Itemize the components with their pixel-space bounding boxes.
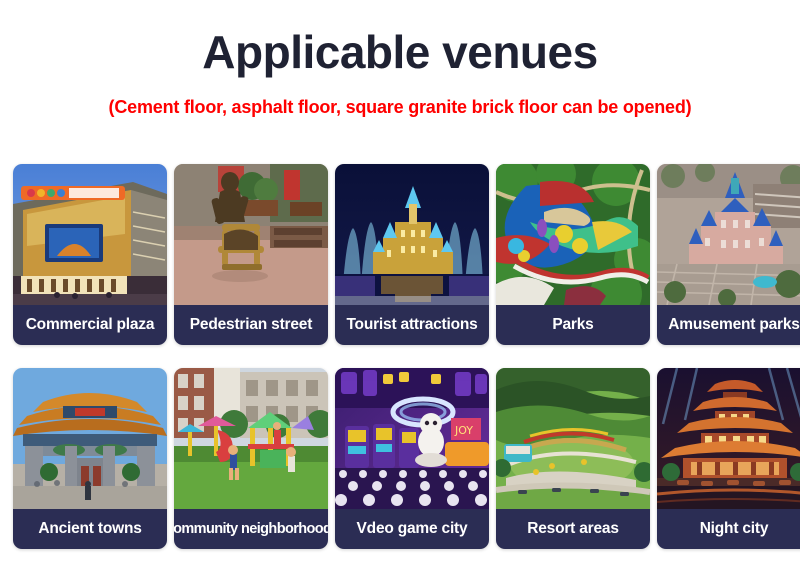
bronze-statue-street-photo	[174, 164, 328, 305]
playground-community-photo	[174, 368, 328, 509]
venue-card-label: Community neighborhoods	[174, 509, 328, 549]
venue-label-text: Resort areas	[527, 520, 619, 538]
venue-label-text: Commercial plaza	[26, 316, 155, 334]
venue-card-commercial-plaza[interactable]: Commercial plaza	[13, 164, 167, 345]
venue-card-label: Ancient towns	[13, 509, 167, 549]
illuminated-pagoda-night-photo	[657, 368, 800, 509]
venue-card-ancient-towns[interactable]: Ancient towns	[13, 368, 167, 549]
aerial-castle-theme-park-photo	[657, 164, 800, 305]
venue-card-community-neighborhoods[interactable]: Community neighborhoods	[174, 368, 328, 549]
shopping-mall-night-photo	[13, 164, 167, 305]
venue-card-label: Parks	[496, 305, 650, 345]
venue-card-video-game-city[interactable]: JOY	[335, 368, 489, 549]
venue-card-tourist-attractions[interactable]: Tourist attractions	[335, 164, 489, 345]
aerial-colorful-park-photo	[496, 164, 650, 305]
venue-label-text: Tourist attractions	[346, 316, 477, 334]
venue-label-text: Vdeo game city	[357, 520, 468, 538]
venue-label-text: Community neighborhoods	[174, 521, 328, 537]
venue-card-pedestrian-street[interactable]: Pedestrian street	[174, 164, 328, 345]
venue-card-resort-areas[interactable]: Resort areas	[496, 368, 650, 549]
venue-label-text: Ancient towns	[38, 520, 141, 538]
venue-row-1: Commercial plaza	[13, 164, 787, 345]
venue-card-label: Commercial plaza	[13, 305, 167, 345]
header: Applicable venues (Cement floor, asphalt…	[0, 0, 800, 118]
svg-text:JOY: JOY	[454, 424, 473, 437]
venue-card-parks[interactable]: Parks	[496, 164, 650, 345]
venue-card-label: Resort areas	[496, 509, 650, 549]
page-subtitle: (Cement floor, asphalt floor, square gra…	[0, 76, 800, 118]
chinese-gate-archway-photo	[13, 368, 167, 509]
venue-card-label: Amusement parks	[657, 305, 800, 345]
venue-card-label: Vdeo game city	[335, 509, 489, 549]
page-title: Applicable venues	[0, 0, 800, 76]
venue-card-amusement-parks[interactable]: Amusement parks	[657, 164, 800, 345]
aerial-resort-valley-photo	[496, 368, 650, 509]
venue-card-grid: Commercial plaza	[13, 164, 787, 572]
arcade-game-center-photo: JOY	[335, 368, 489, 509]
applicable-venues-page: Applicable venues (Cement floor, asphalt…	[0, 0, 800, 569]
venue-card-label: Pedestrian street	[174, 305, 328, 345]
venue-label-text: Parks	[552, 316, 593, 334]
venue-card-night-city[interactable]: Night city	[657, 368, 800, 549]
venue-card-label: Tourist attractions	[335, 305, 489, 345]
venue-label-text: Night city	[700, 520, 769, 538]
venue-row-2: Ancient towns	[13, 368, 787, 549]
castle-fountain-night-photo	[335, 164, 489, 305]
venue-label-text: Pedestrian street	[190, 316, 312, 334]
venue-label-text: Amusement parks	[668, 316, 799, 334]
venue-card-label: Night city	[657, 509, 800, 549]
